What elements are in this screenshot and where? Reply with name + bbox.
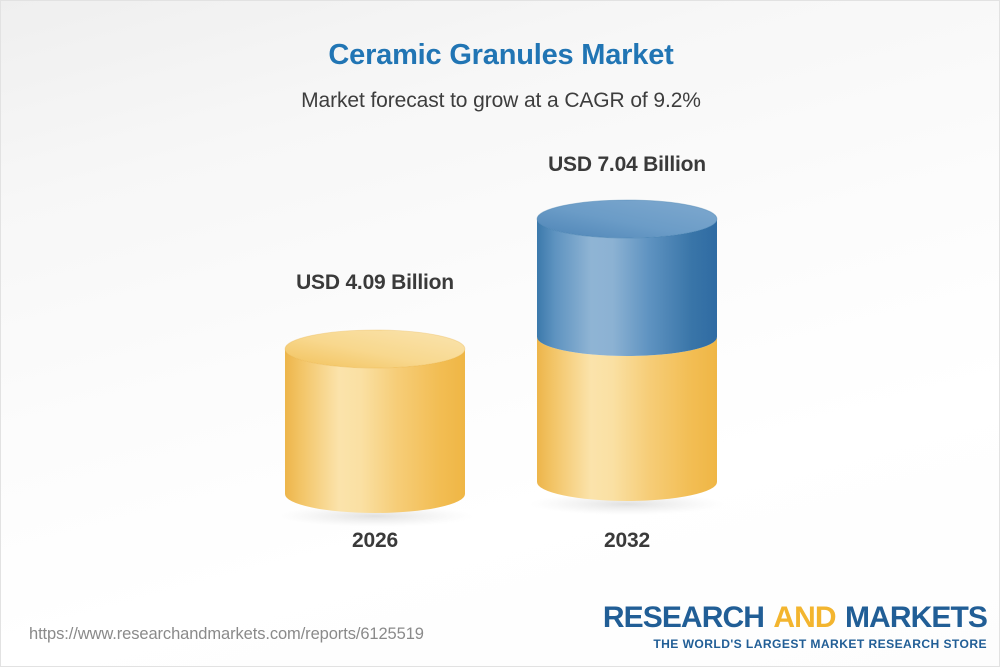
- bar-category-label-2026: 2026: [269, 529, 481, 553]
- brand-word-markets: MARKETS: [845, 601, 987, 634]
- brand-word-research: RESEARCH: [603, 601, 764, 634]
- brand-word-and: AND: [773, 601, 835, 634]
- chart-canvas: Ceramic Granules Market Market forecast …: [0, 0, 1000, 667]
- brand-logo[interactable]: RESEARCH AND MARKETS THE WORLD'S LARGEST…: [603, 603, 987, 650]
- cylinder-2032: [531, 199, 723, 517]
- bar-category-label-2032: 2032: [521, 529, 733, 553]
- brand-tagline: THE WORLD'S LARGEST MARKET RESEARCH STOR…: [603, 638, 987, 650]
- cylinder-segment-growth-2032: [537, 219, 717, 356]
- cylinder-2026: [279, 329, 471, 529]
- report-url[interactable]: https://www.researchandmarkets.com/repor…: [29, 625, 424, 644]
- bar-group-2026: USD 4.09 Billion: [269, 271, 481, 561]
- bar-value-label-2032: USD 7.04 Billion: [521, 153, 733, 177]
- brand-logo-wordmark: RESEARCH AND MARKETS: [603, 603, 987, 633]
- cylinder-segment-base-2032: [537, 337, 717, 501]
- bar-value-label-2026: USD 4.09 Billion: [269, 271, 481, 295]
- plot-area: USD 4.09 Billion: [1, 1, 1000, 601]
- bar-group-2032: USD 7.04 Billion: [521, 153, 733, 561]
- cylinder-body-2026: [285, 349, 465, 513]
